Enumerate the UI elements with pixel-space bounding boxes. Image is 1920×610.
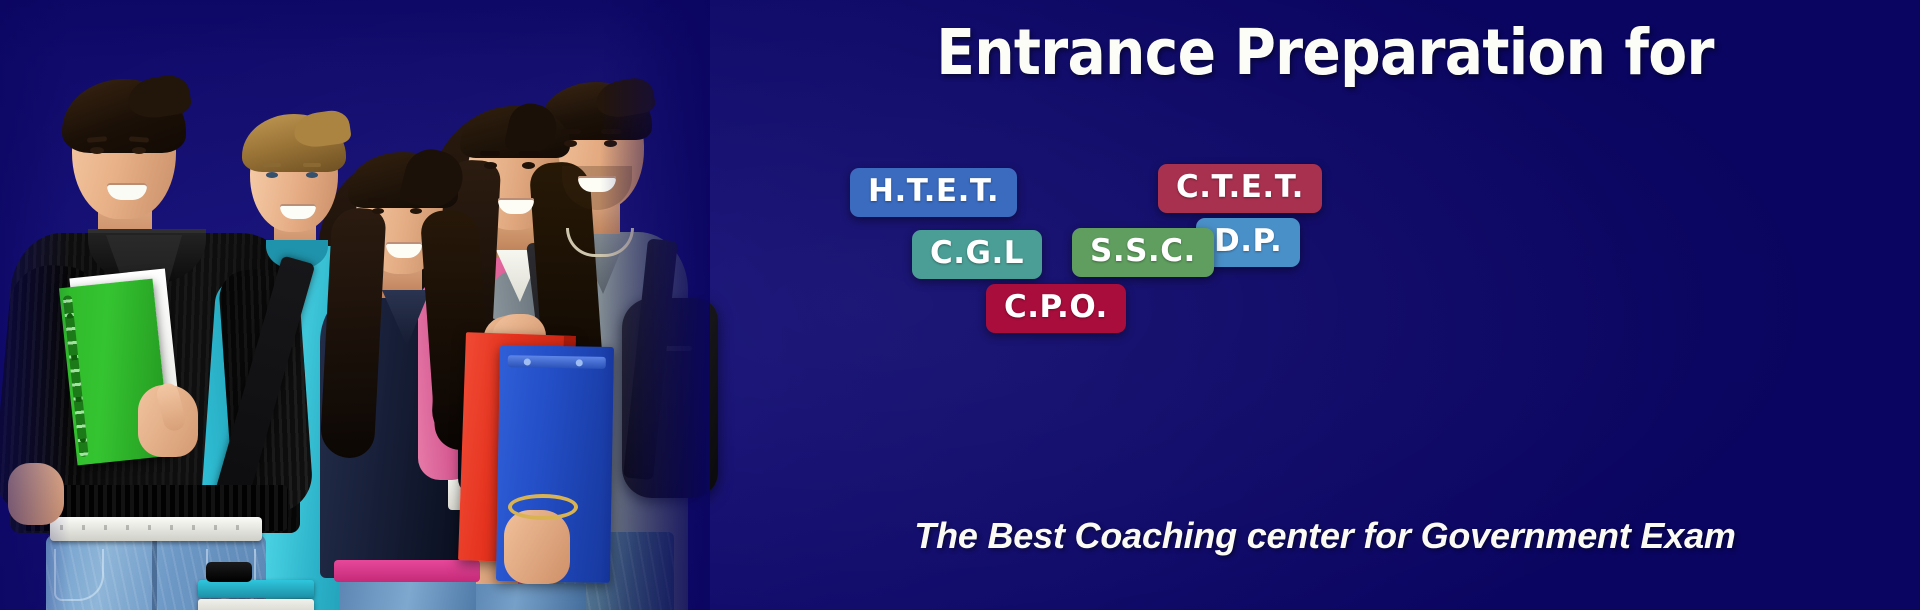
- eye-right: [522, 162, 535, 169]
- students-photo: [0, 0, 710, 610]
- badge-cgl[interactable]: C.G.L: [912, 230, 1042, 279]
- white-belt: [50, 517, 262, 541]
- eye-left: [90, 147, 104, 154]
- eyebrow-right: [303, 163, 321, 167]
- eye-right: [132, 147, 146, 154]
- eyebrow-left: [561, 129, 581, 134]
- eyebrow-right: [519, 151, 539, 156]
- book-stack: [198, 580, 318, 610]
- badge-htet[interactable]: H.T.E.T.: [850, 168, 1017, 217]
- exam-badge-cloud: H.T.E.T.C.T.E.T.D.P.S.S.C.C.G.LC.P.O.: [800, 150, 1860, 350]
- eyebrow-right: [601, 129, 621, 134]
- entrance-preparation-banner: Entrance Preparation for H.T.E.T.C.T.E.T…: [0, 0, 1920, 610]
- clipboard-rivet-right: [576, 359, 583, 366]
- eye-right: [306, 172, 318, 178]
- gold-bangle: [508, 494, 578, 520]
- badge-ssc[interactable]: S.S.C.: [1072, 228, 1214, 277]
- eye-right: [604, 140, 617, 147]
- eyebrow-left: [263, 163, 281, 167]
- jeans: [340, 578, 476, 610]
- clipboard-clip: [508, 355, 606, 369]
- eye-left: [372, 208, 384, 214]
- hand-left: [8, 463, 64, 525]
- tagline: The Best Coaching center for Government …: [760, 515, 1890, 557]
- pink-hem: [334, 560, 480, 582]
- jeans-pocket-left: [54, 549, 104, 601]
- eye-left: [484, 162, 497, 169]
- page-title: Entrance Preparation for: [817, 18, 1834, 89]
- eye-left: [564, 140, 577, 147]
- eye-left: [266, 172, 278, 178]
- eyebrow-right: [407, 198, 426, 202]
- eye-right: [410, 208, 422, 214]
- badge-cpo[interactable]: C.P.O.: [986, 284, 1126, 333]
- badge-ctet[interactable]: C.T.E.T.: [1158, 164, 1322, 213]
- book-cyan: [198, 580, 314, 598]
- book-white: [198, 599, 314, 610]
- hand-right: [504, 510, 570, 584]
- eyebrow-left: [480, 151, 500, 156]
- eyebrow-left: [368, 198, 387, 202]
- wristwatch-icon: [206, 562, 252, 582]
